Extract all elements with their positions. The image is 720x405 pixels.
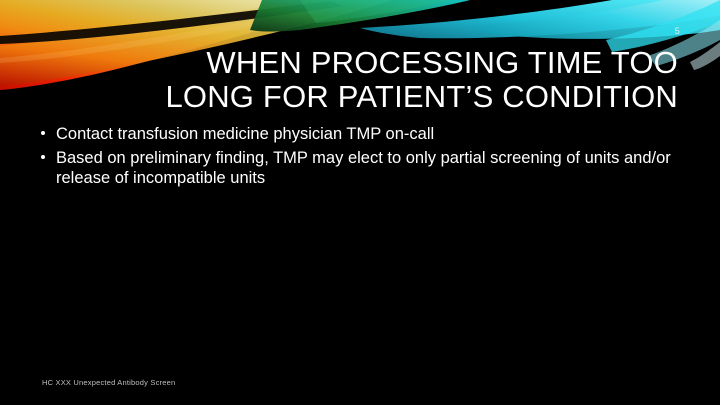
list-item-text: Contact transfusion medicine physician T… xyxy=(56,124,690,144)
presentation-slide: 5 WHEN PROCESSING TIME TOO LONG FOR PATI… xyxy=(0,0,720,405)
slide-footer: HC XXX Unexpected Antibody Screen xyxy=(42,378,175,387)
list-item: Contact transfusion medicine physician T… xyxy=(38,124,690,144)
slide-number: 5 xyxy=(675,26,680,36)
list-item: Based on preliminary finding, TMP may el… xyxy=(38,148,690,188)
bullet-dot-icon xyxy=(41,155,45,159)
list-item-text: Based on preliminary finding, TMP may el… xyxy=(56,148,690,188)
page-title-line-1: WHEN PROCESSING TIME TOO xyxy=(120,46,678,80)
bullet-dot-icon xyxy=(41,131,45,135)
page-title-line-2: LONG FOR PATIENT’S CONDITION xyxy=(120,80,678,114)
page-title: WHEN PROCESSING TIME TOO LONG FOR PATIEN… xyxy=(120,46,678,114)
bullet-list: Contact transfusion medicine physician T… xyxy=(38,124,690,192)
